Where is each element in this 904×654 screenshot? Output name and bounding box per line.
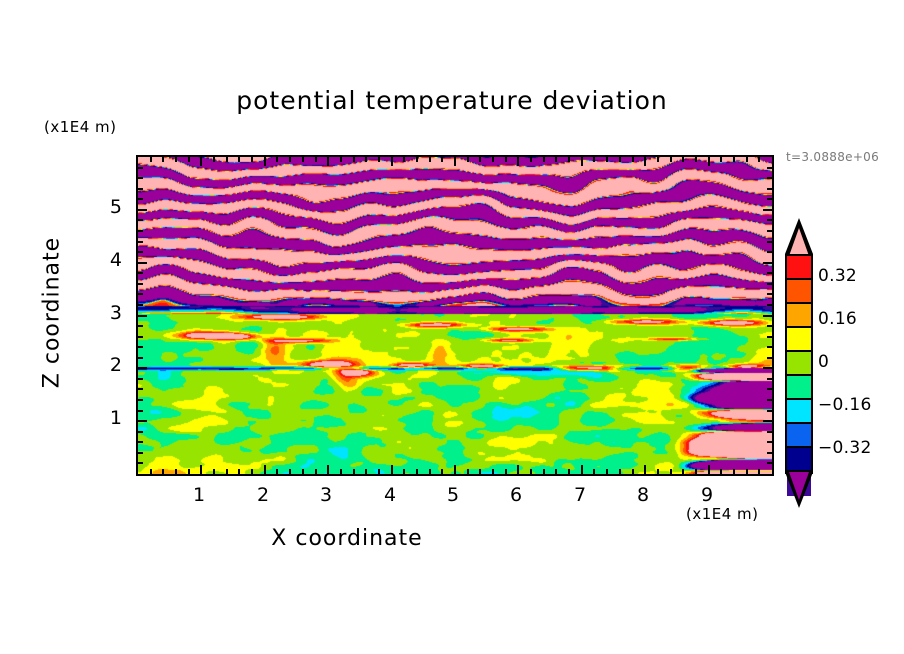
y-axis-minor-tick: [767, 230, 772, 232]
y-axis-tick-label: 1: [82, 407, 122, 429]
x-axis-minor-tick: [213, 469, 215, 474]
x-axis-tick: [708, 465, 710, 474]
x-axis-minor-tick: [315, 469, 317, 474]
y-axis-minor-tick: [767, 452, 772, 454]
y-axis-tick-label: 2: [82, 354, 122, 376]
x-axis-minor-tick: [492, 469, 494, 474]
y-axis-minor-tick: [138, 198, 143, 200]
y-axis-minor-tick: [767, 177, 772, 179]
colorbar: [785, 254, 813, 474]
x-axis-minor-tick: [416, 157, 418, 162]
x-axis-minor-tick: [746, 157, 748, 162]
y-axis-minor-tick: [138, 283, 143, 285]
x-axis-minor-tick: [340, 157, 342, 162]
x-axis-minor-tick: [251, 157, 253, 162]
colorbar-segment: [787, 376, 811, 400]
x-axis-minor-tick: [632, 157, 634, 162]
x-axis-minor-tick: [441, 157, 443, 162]
x-axis-minor-tick: [479, 469, 481, 474]
y-axis-tick: [138, 367, 147, 369]
y-axis-unit-label: (x1E4 m): [44, 118, 117, 136]
x-axis-minor-tick: [378, 469, 380, 474]
y-axis-tick-label: 3: [82, 302, 122, 324]
x-axis-minor-tick: [302, 157, 304, 162]
y-axis-minor-tick: [767, 378, 772, 380]
x-axis-minor-tick: [733, 469, 735, 474]
x-axis-tick: [644, 157, 646, 166]
colorbar-tick-label: −0.16: [818, 395, 872, 415]
y-axis-minor-tick: [767, 304, 772, 306]
x-axis-minor-tick: [505, 157, 507, 162]
x-axis-minor-tick: [429, 157, 431, 162]
x-axis-minor-tick: [365, 469, 367, 474]
x-axis-tick-label: 2: [243, 484, 283, 506]
y-axis-minor-tick: [138, 188, 143, 190]
x-axis-minor-tick: [302, 469, 304, 474]
x-axis-minor-tick: [657, 157, 659, 162]
x-axis-minor-tick: [758, 469, 760, 474]
x-axis-tick: [264, 465, 266, 474]
x-axis-minor-tick: [441, 469, 443, 474]
x-axis-minor-tick: [593, 157, 595, 162]
y-axis-minor-tick: [138, 336, 143, 338]
x-axis-minor-tick: [226, 469, 228, 474]
x-axis-minor-tick: [315, 157, 317, 162]
x-axis-minor-tick: [251, 469, 253, 474]
y-axis-minor-tick: [138, 431, 143, 433]
x-axis-minor-tick: [188, 157, 190, 162]
x-axis-minor-tick: [492, 157, 494, 162]
y-axis-minor-tick: [138, 462, 143, 464]
x-axis-tick: [327, 465, 329, 474]
x-axis-minor-tick: [670, 469, 672, 474]
page-title: potential temperature deviation: [0, 86, 904, 115]
x-axis-minor-tick: [238, 157, 240, 162]
x-axis-minor-tick: [429, 469, 431, 474]
x-axis-unit-label: (x1E4 m): [686, 505, 759, 523]
x-axis-tick: [708, 157, 710, 166]
y-axis-minor-tick: [138, 346, 143, 348]
x-axis-minor-tick: [619, 469, 621, 474]
x-axis-minor-tick: [657, 469, 659, 474]
y-axis-tick: [763, 420, 772, 422]
x-axis-minor-tick: [695, 469, 697, 474]
colorbar-tick-label: 0: [818, 352, 829, 372]
x-axis-minor-tick: [188, 469, 190, 474]
x-axis-tick-label: 3: [306, 484, 346, 506]
y-axis-minor-tick: [767, 441, 772, 443]
x-axis-minor-tick: [530, 157, 532, 162]
colorbar-segment: [787, 352, 811, 376]
x-axis-minor-tick: [606, 157, 608, 162]
contour-field: [138, 157, 772, 474]
x-axis-minor-tick: [340, 469, 342, 474]
y-axis-minor-tick: [138, 441, 143, 443]
y-axis-minor-tick: [138, 378, 143, 380]
y-axis-tick: [763, 209, 772, 211]
y-axis-tick: [138, 209, 147, 211]
colorbar-cap-top: [789, 228, 809, 256]
y-axis-minor-tick: [767, 431, 772, 433]
colorbar-segment: [787, 328, 811, 352]
colorbar-segment: [787, 400, 811, 424]
y-axis-minor-tick: [767, 336, 772, 338]
x-axis-tick: [264, 157, 266, 166]
time-stamp: t=3.0888e+06: [786, 150, 879, 164]
x-axis-minor-tick: [150, 157, 152, 162]
x-axis-minor-tick: [276, 469, 278, 474]
x-axis-minor-tick: [175, 157, 177, 162]
x-axis-minor-tick: [467, 157, 469, 162]
y-axis-minor-tick: [767, 410, 772, 412]
y-axis-minor-tick: [138, 325, 143, 327]
x-axis-minor-tick: [226, 157, 228, 162]
colorbar-tick-label: −0.32: [818, 438, 872, 458]
y-axis-tick-label: 5: [82, 196, 122, 218]
colorbar-segment: [787, 280, 811, 304]
y-axis-tick: [138, 315, 147, 317]
x-axis-tick: [644, 465, 646, 474]
y-axis-minor-tick: [767, 283, 772, 285]
y-axis-tick: [763, 315, 772, 317]
x-axis-minor-tick: [353, 469, 355, 474]
y-axis-minor-tick: [767, 251, 772, 253]
x-axis-minor-tick: [543, 469, 545, 474]
x-axis-minor-tick: [416, 469, 418, 474]
x-axis-minor-tick: [162, 157, 164, 162]
x-axis-tick: [454, 157, 456, 166]
x-axis-tick: [391, 465, 393, 474]
x-axis-tick: [200, 157, 202, 166]
y-axis-minor-tick: [138, 177, 143, 179]
y-axis-minor-tick: [138, 272, 143, 274]
x-axis-minor-tick: [593, 469, 595, 474]
x-axis-minor-tick: [632, 469, 634, 474]
x-axis-minor-tick: [505, 469, 507, 474]
x-axis-minor-tick: [733, 157, 735, 162]
x-axis-minor-tick: [403, 157, 405, 162]
y-axis-minor-tick: [767, 399, 772, 401]
y-axis-minor-tick: [767, 188, 772, 190]
colorbar-segment: [787, 256, 811, 280]
x-axis-minor-tick: [530, 469, 532, 474]
x-axis-minor-tick: [353, 157, 355, 162]
x-axis-tick: [391, 157, 393, 166]
x-axis-minor-tick: [758, 157, 760, 162]
x-axis-minor-tick: [682, 469, 684, 474]
x-axis-minor-tick: [720, 157, 722, 162]
x-axis-minor-tick: [746, 469, 748, 474]
x-axis-minor-tick: [555, 469, 557, 474]
y-axis-minor-tick: [138, 357, 143, 359]
x-axis-minor-tick: [682, 157, 684, 162]
y-axis-minor-tick: [138, 452, 143, 454]
y-axis-minor-tick: [767, 198, 772, 200]
y-axis-minor-tick: [767, 357, 772, 359]
x-axis-tick-label: 6: [496, 484, 536, 506]
y-axis-minor-tick: [767, 272, 772, 274]
y-axis-minor-tick: [767, 293, 772, 295]
y-axis-tick: [763, 367, 772, 369]
x-axis-tick-label: 1: [179, 484, 219, 506]
x-axis-minor-tick: [175, 469, 177, 474]
x-axis-minor-tick: [213, 157, 215, 162]
x-axis-minor-tick: [150, 469, 152, 474]
x-axis-minor-tick: [555, 157, 557, 162]
x-axis-minor-tick: [276, 157, 278, 162]
y-axis-minor-tick: [138, 399, 143, 401]
x-axis-minor-tick: [479, 157, 481, 162]
x-axis-tick-label: 8: [623, 484, 663, 506]
x-axis-minor-tick: [403, 469, 405, 474]
y-axis-minor-tick: [767, 325, 772, 327]
y-axis-tick: [763, 262, 772, 264]
contour-plot-area: [136, 155, 774, 476]
y-axis-minor-tick: [138, 167, 143, 169]
x-axis-minor-tick: [670, 157, 672, 162]
x-axis-minor-tick: [543, 157, 545, 162]
x-axis-title: X coordinate: [0, 526, 694, 551]
x-axis-minor-tick: [378, 157, 380, 162]
x-axis-minor-tick: [619, 157, 621, 162]
y-axis-minor-tick: [138, 251, 143, 253]
x-axis-minor-tick: [568, 157, 570, 162]
x-axis-minor-tick: [365, 157, 367, 162]
x-axis-minor-tick: [162, 469, 164, 474]
colorbar-segment: [787, 424, 811, 448]
y-axis-minor-tick: [138, 241, 143, 243]
y-axis-minor-tick: [138, 219, 143, 221]
x-axis-tick: [517, 157, 519, 166]
x-axis-minor-tick: [289, 157, 291, 162]
y-axis-minor-tick: [138, 304, 143, 306]
colorbar-cap-bottom: [789, 472, 809, 500]
y-axis-minor-tick: [138, 230, 143, 232]
x-axis-tick: [200, 465, 202, 474]
y-axis-minor-tick: [138, 410, 143, 412]
x-axis-tick: [454, 465, 456, 474]
y-axis-minor-tick: [767, 241, 772, 243]
y-axis-minor-tick: [767, 219, 772, 221]
x-axis-tick: [327, 157, 329, 166]
x-axis-minor-tick: [720, 469, 722, 474]
x-axis-minor-tick: [238, 469, 240, 474]
x-axis-minor-tick: [695, 157, 697, 162]
x-axis-tick: [581, 465, 583, 474]
y-axis-minor-tick: [767, 346, 772, 348]
y-axis-title: Z coordinate: [40, 223, 65, 403]
x-axis-tick-label: 9: [687, 484, 727, 506]
y-axis-minor-tick: [767, 167, 772, 169]
x-axis-minor-tick: [289, 469, 291, 474]
y-axis-minor-tick: [138, 293, 143, 295]
y-axis-tick-label: 4: [82, 249, 122, 271]
x-axis-minor-tick: [467, 469, 469, 474]
y-axis-minor-tick: [767, 462, 772, 464]
x-axis-minor-tick: [606, 469, 608, 474]
colorbar-tick-label: 0.32: [818, 266, 857, 286]
x-axis-tick: [581, 157, 583, 166]
x-axis-tick-label: 4: [370, 484, 410, 506]
y-axis-minor-tick: [138, 388, 143, 390]
colorbar-segment: [787, 304, 811, 328]
colorbar-segment: [787, 448, 811, 472]
y-axis-minor-tick: [767, 388, 772, 390]
x-axis-tick-label: 5: [433, 484, 473, 506]
colorbar-tick-label: 0.16: [818, 309, 857, 329]
y-axis-tick: [138, 262, 147, 264]
x-axis-tick-label: 7: [560, 484, 600, 506]
x-axis-minor-tick: [568, 469, 570, 474]
x-axis-tick: [517, 465, 519, 474]
y-axis-tick: [138, 420, 147, 422]
